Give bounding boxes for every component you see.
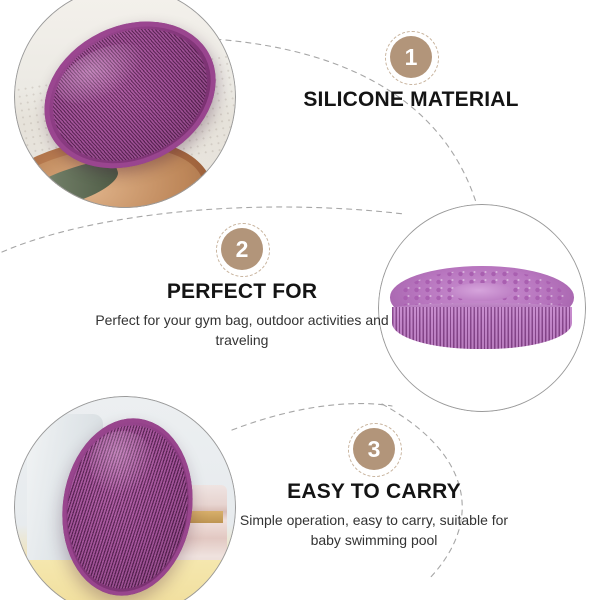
product-photo-studio [378,204,586,412]
photo-three-inner [14,396,236,600]
step-one-title: SILICONE MATERIAL [246,88,576,112]
step-two-title: PERFECT FOR [92,280,392,304]
silicone-brush-threequarter [390,266,573,358]
infographic-page: 1 SILICONE MATERIAL 2 PERFECT FOR Perfec… [0,0,600,600]
product-photo-towel [14,0,236,208]
step-two: 2 PERFECT FOR Perfect for your gym bag, … [92,228,392,351]
photo-two-inner [378,204,586,412]
step-three-body: Simple operation, easy to carry, suitabl… [224,511,524,551]
product-photo-jars [14,396,236,600]
step-three-title: EASY TO CARRY [224,480,524,504]
step-three: 3 EASY TO CARRY Simple operation, easy t… [224,428,524,551]
photo-one-inner [14,0,236,208]
step-one: 1 SILICONE MATERIAL [246,36,576,119]
brush-bristle-side [392,307,571,349]
step-two-body: Perfect for your gym bag, outdoor activi… [92,311,392,351]
brush-center-hub [451,283,513,302]
step-three-badge: 3 [353,428,395,470]
side-bristle-texture [392,307,571,349]
step-one-badge: 1 [390,36,432,78]
step-two-badge: 2 [221,228,263,270]
